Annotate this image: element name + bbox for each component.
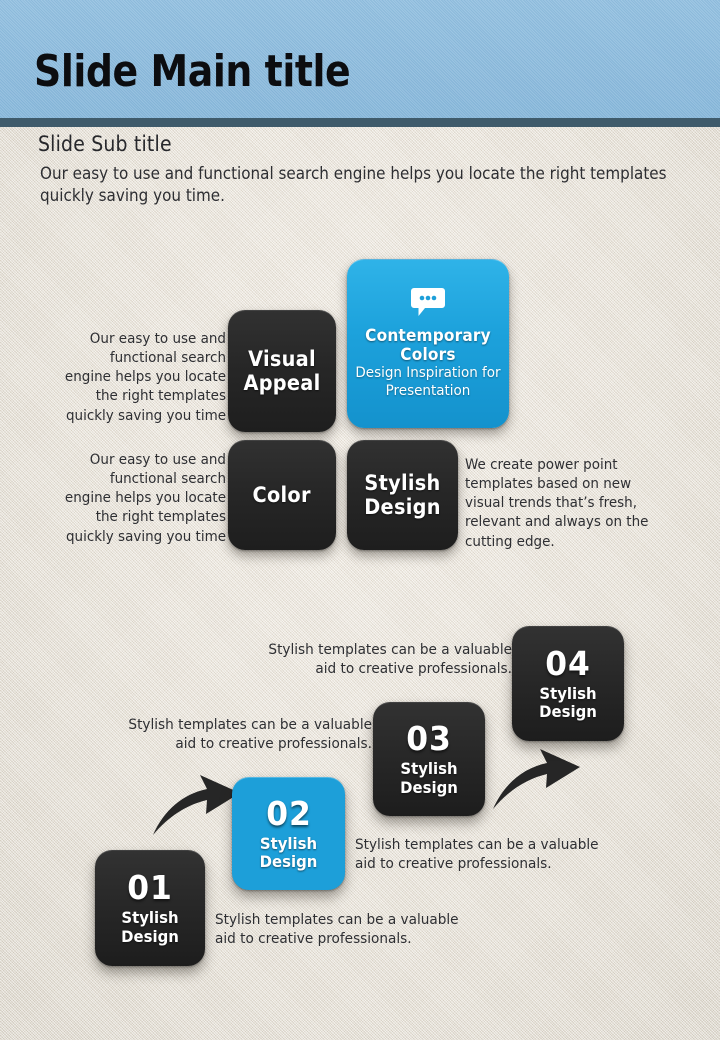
card-stylish-design[interactable]: Stylish Design bbox=[347, 440, 458, 550]
step-number-02: 02 bbox=[266, 797, 312, 830]
card-stylish-design-title: Stylish Design bbox=[351, 472, 453, 520]
step-caption-04: Stylish templates can be a valuable aid … bbox=[266, 641, 512, 679]
step-number-03: 03 bbox=[406, 722, 452, 755]
step-caption-01: Stylish templates can be a valuable aid … bbox=[215, 911, 461, 949]
step-label-04: Stylish Design bbox=[516, 685, 620, 721]
step-label-02: Stylish Design bbox=[236, 835, 341, 871]
paragraph-stylish-design: We create power point templates based on… bbox=[465, 456, 665, 552]
card-visual-appeal-title: Visual Appeal bbox=[232, 348, 331, 396]
step-number-01: 01 bbox=[127, 871, 173, 904]
slide-description: Our easy to use and functional search en… bbox=[40, 163, 675, 208]
step-card-04[interactable]: 04 Stylish Design bbox=[512, 626, 624, 741]
speech-bubble-icon bbox=[411, 288, 445, 316]
card-color-title: Color bbox=[253, 484, 311, 508]
step-card-03[interactable]: 03 Stylish Design bbox=[373, 702, 485, 816]
step-label-03: Stylish Design bbox=[377, 760, 481, 796]
arrow-step-03-to-04 bbox=[490, 740, 586, 812]
card-contemporary-colors[interactable]: Contemporary Colors Design Inspiration f… bbox=[347, 259, 509, 428]
page-title: Slide Main title bbox=[34, 50, 350, 94]
step-card-01[interactable]: 01 Stylish Design bbox=[95, 850, 205, 966]
step-caption-02: Stylish templates can be a valuable aid … bbox=[355, 836, 601, 874]
step-number-04: 04 bbox=[545, 647, 591, 680]
slide-sub-title: Slide Sub title bbox=[38, 132, 172, 156]
header-divider bbox=[0, 118, 720, 127]
step-card-02[interactable]: 02 Stylish Design bbox=[232, 777, 345, 890]
card-color[interactable]: Color bbox=[228, 440, 336, 550]
slide-header: Slide Main title bbox=[0, 0, 720, 118]
step-label-01: Stylish Design bbox=[99, 909, 201, 945]
paragraph-color: Our easy to use and functional search en… bbox=[60, 451, 226, 547]
card-visual-appeal[interactable]: Visual Appeal bbox=[228, 310, 336, 432]
card-contemporary-title: Contemporary Colors bbox=[353, 327, 504, 364]
slide-canvas: Slide Main title Slide Sub title Our eas… bbox=[0, 0, 720, 1040]
card-contemporary-subtitle: Design Inspiration for Presentation bbox=[353, 365, 504, 400]
step-caption-03: Stylish templates can be a valuable aid … bbox=[126, 716, 372, 754]
paragraph-visual-appeal: Our easy to use and functional search en… bbox=[60, 330, 226, 426]
